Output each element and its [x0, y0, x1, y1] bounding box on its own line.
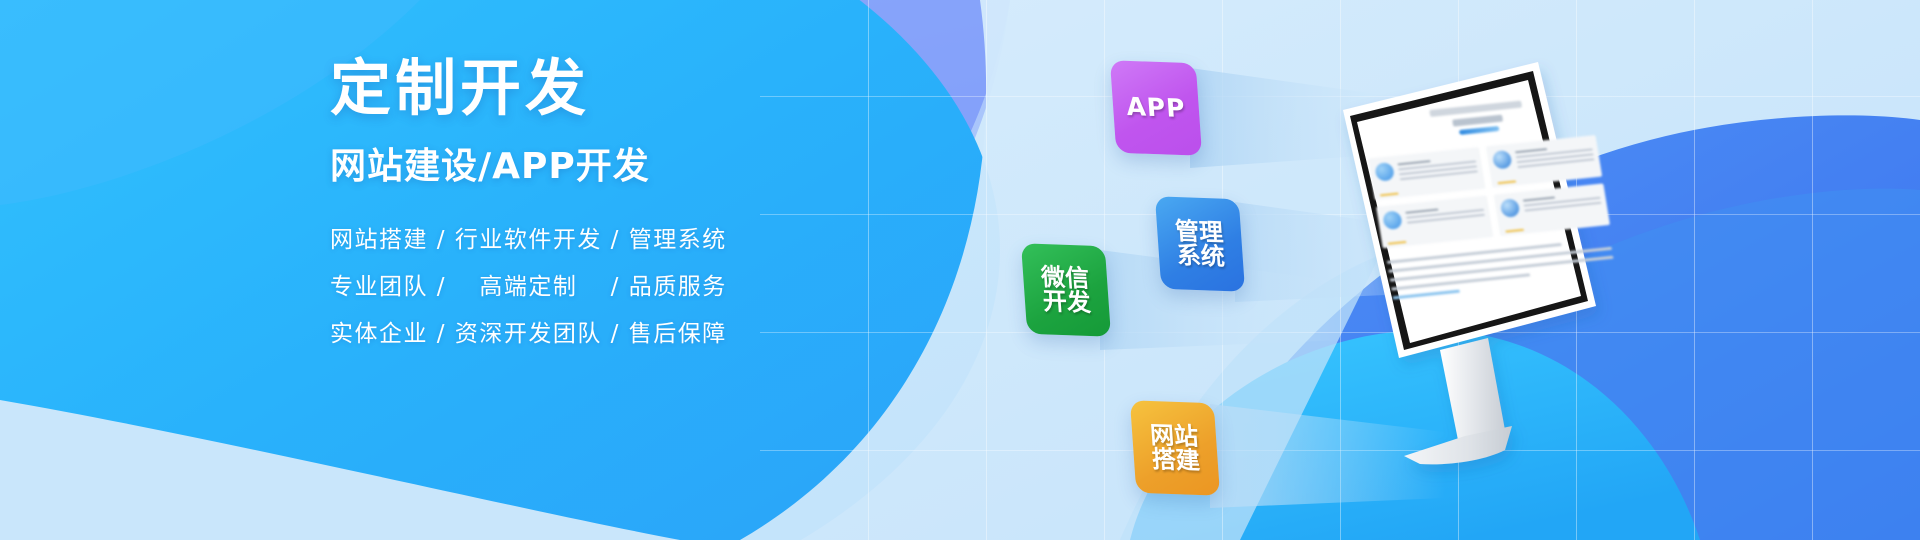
- card-wechat-development[interactable]: 微信 开发: [1021, 243, 1111, 336]
- card-app-line-1: APP: [1126, 94, 1187, 122]
- card-website-build[interactable]: 网站 搭建: [1130, 400, 1220, 495]
- subline: 网站建设/APP开发: [330, 149, 850, 185]
- banner-copy: 定制开发 网站建设/APP开发 网站搭建 / 行业软件开发 / 管理系统 专业团…: [330, 58, 850, 346]
- card-wechat-line-2: 开发: [1042, 289, 1092, 315]
- card-management-system[interactable]: 管理 系统: [1155, 196, 1245, 291]
- card-mgmt-line-2: 系统: [1176, 243, 1226, 269]
- description-line-2: 专业团队 / 高端定制 / 品质服务: [330, 276, 850, 299]
- monitor-illustration: [1300, 58, 1620, 478]
- description-line-1: 网站搭建 / 行业软件开发 / 管理系统: [330, 229, 850, 252]
- card-app[interactable]: APP: [1110, 60, 1202, 155]
- description-list: 网站搭建 / 行业软件开发 / 管理系统 专业团队 / 高端定制 / 品质服务 …: [330, 229, 850, 346]
- promo-banner: 定制开发 网站建设/APP开发 网站搭建 / 行业软件开发 / 管理系统 专业团…: [0, 0, 1920, 540]
- headline: 定制开发: [330, 58, 850, 119]
- card-web-line-2: 搭建: [1151, 447, 1201, 473]
- description-line-3: 实体企业 / 资深开发团队 / 售后保障: [330, 323, 850, 346]
